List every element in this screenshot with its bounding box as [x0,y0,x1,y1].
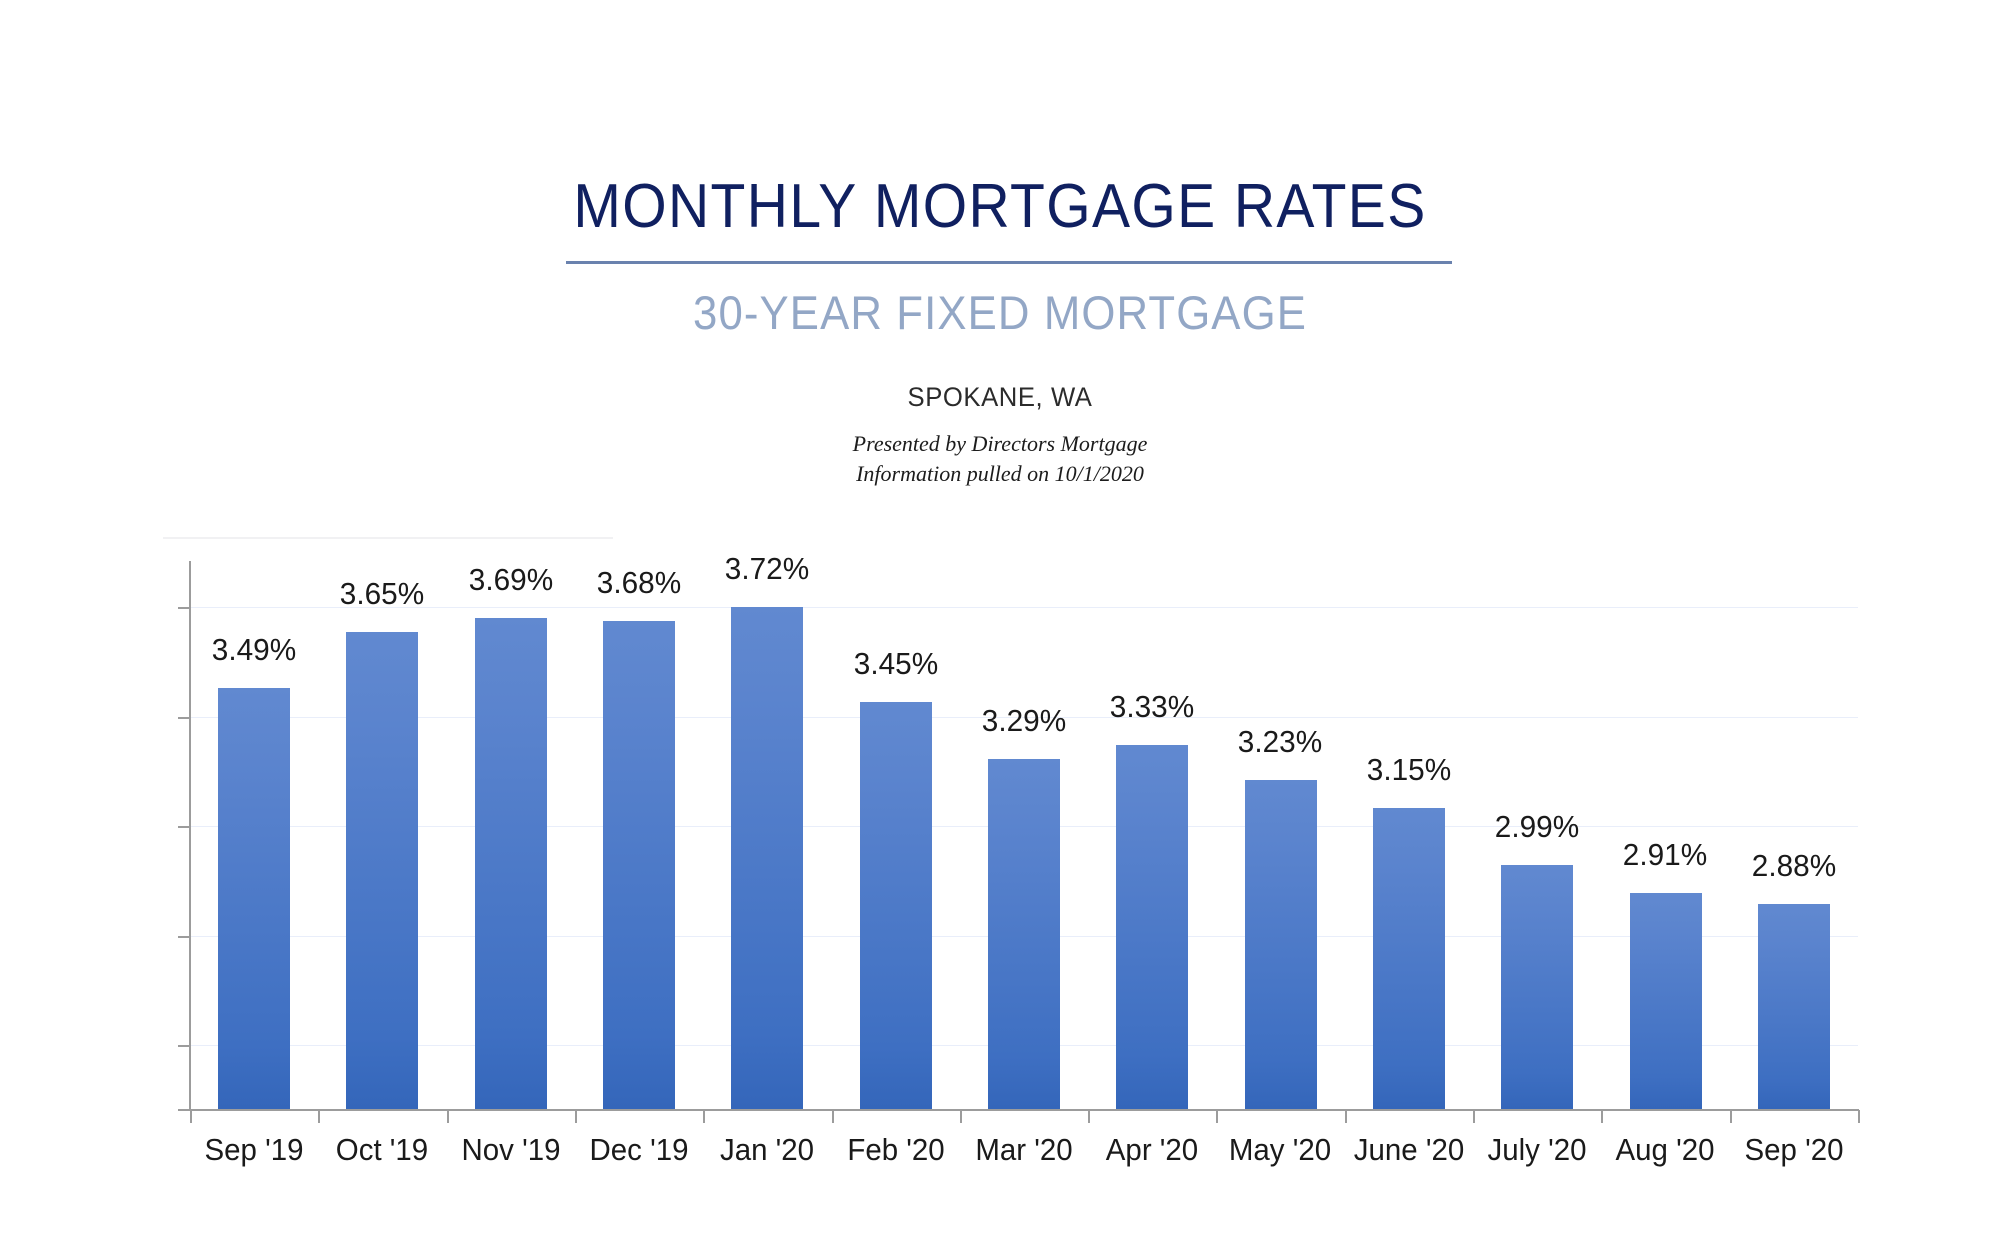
x-axis-tick [1345,1110,1347,1123]
bar-value-label: 3.33% [1091,689,1214,725]
x-axis-line [189,1109,1859,1111]
x-axis-tick [1216,1110,1218,1123]
bar-value-label: 3.29% [963,703,1086,739]
x-axis-tick [1858,1110,1860,1123]
bar[interactable] [731,607,803,1109]
y-axis-line [189,561,191,1111]
x-axis-category-label: Sep '19 [193,1130,315,1170]
y-axis-tick [178,936,191,938]
bar[interactable] [1373,808,1445,1109]
bar-chart: 3.49%3.65%3.69%3.68%3.72%3.45%3.29%3.33%… [0,0,2000,1250]
x-axis-tick [1730,1110,1732,1123]
y-axis-tick [178,1045,191,1047]
bar[interactable] [860,702,932,1109]
bar-value-label: 3.15% [1348,752,1471,788]
x-axis-category-label: Nov '19 [450,1130,572,1170]
bar-value-label: 3.72% [706,551,829,587]
bar-value-label: 2.88% [1733,848,1856,884]
x-axis-tick [1473,1110,1475,1123]
x-axis-tick [575,1110,577,1123]
x-axis-tick [1088,1110,1090,1123]
x-axis-tick [447,1110,449,1123]
bar[interactable] [346,632,418,1109]
x-axis-category-label: June '20 [1348,1130,1470,1170]
bar[interactable] [988,759,1060,1109]
x-axis-category-label: July '20 [1476,1130,1598,1170]
bar[interactable] [1116,745,1188,1109]
x-axis-category-label: Dec '19 [578,1130,700,1170]
x-axis-category-label: Apr '20 [1091,1130,1213,1170]
decorative-rule [163,537,613,539]
bar[interactable] [475,618,547,1109]
y-axis-tick [178,717,191,719]
x-axis-category-label: Jan '20 [706,1130,828,1170]
bar-value-label: 3.49% [193,632,316,668]
x-axis-tick [703,1110,705,1123]
bar[interactable] [1758,904,1830,1109]
bar[interactable] [603,621,675,1109]
bar[interactable] [1630,893,1702,1109]
x-axis-tick [318,1110,320,1123]
bar[interactable] [218,688,290,1109]
x-axis-tick [960,1110,962,1123]
bar[interactable] [1501,865,1573,1109]
bar-value-label: 3.69% [450,562,573,598]
bar-value-label: 3.23% [1219,724,1342,760]
x-axis-tick [190,1110,192,1123]
bar[interactable] [1245,780,1317,1109]
y-axis-tick [178,826,191,828]
bar-value-label: 3.65% [321,576,444,612]
y-axis-tick [178,607,191,609]
x-axis-tick [1601,1110,1603,1123]
bar-value-label: 3.45% [835,646,958,682]
x-axis-category-label: Sep '20 [1733,1130,1855,1170]
x-axis-category-label: Oct '19 [321,1130,443,1170]
bar-value-label: 2.99% [1476,809,1599,845]
x-axis-category-label: Feb '20 [835,1130,957,1170]
x-axis-category-label: Mar '20 [963,1130,1085,1170]
bar-value-label: 2.91% [1604,837,1727,873]
x-axis-category-label: Aug '20 [1604,1130,1726,1170]
x-axis-tick [832,1110,834,1123]
bar-value-label: 3.68% [578,565,701,601]
x-axis-category-label: May '20 [1219,1130,1341,1170]
